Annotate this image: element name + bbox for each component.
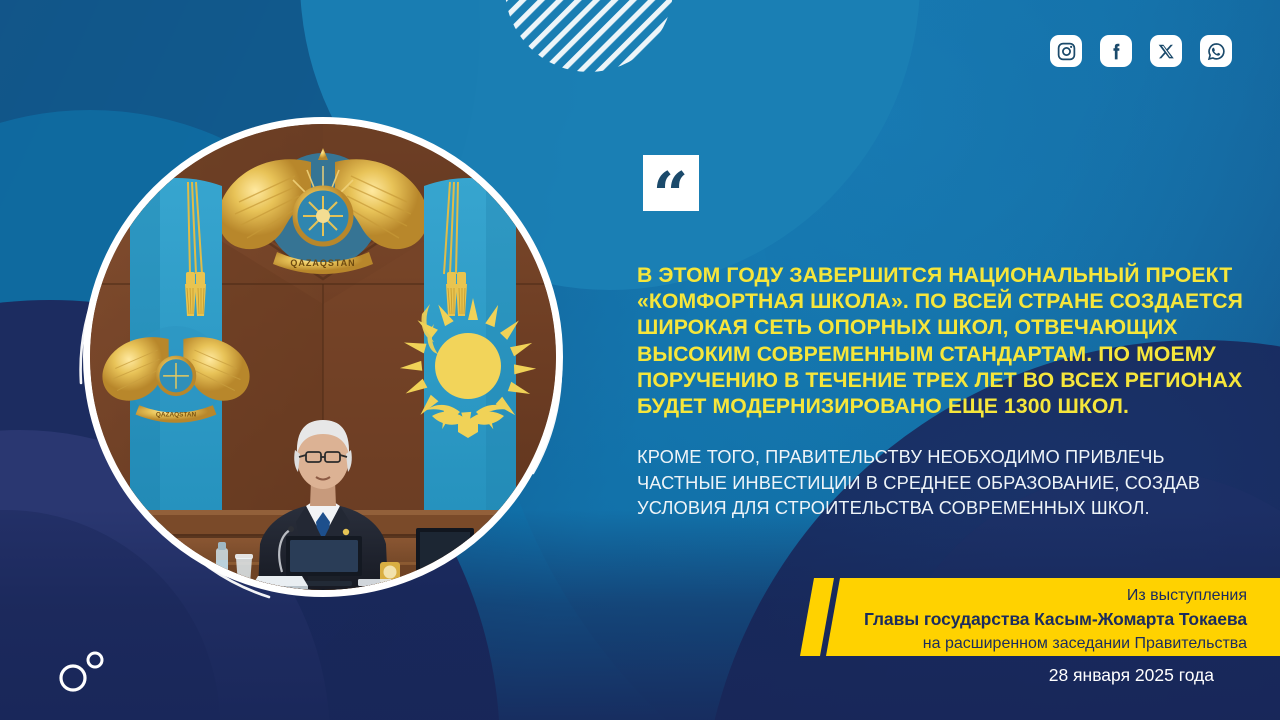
attribution-date: 28 января 2025 года [1049,665,1214,686]
quote-primary-text: В ЭТОМ ГОДУ ЗАВЕРШИТСЯ НАЦИОНАЛЬНЫЙ ПРОЕ… [637,263,1247,420]
social-links [1050,35,1232,67]
svg-text:QAZAQSTAN: QAZAQSTAN [290,258,355,268]
photo-image: QAZAQSTAN [90,124,556,590]
quote-secondary-text: КРОМЕ ТОГО, ПРАВИТЕЛЬСТВУ НЕОБХОДИМО ПРИ… [637,444,1247,520]
poster-canvas: QAZAQSTAN [0,0,1280,720]
instagram-icon[interactable] [1050,35,1082,67]
ring-dots-icon [55,645,115,695]
attribution-line-1: Из выступления [864,585,1247,607]
attribution-text: Из выступления Главы государства Касым-Ж… [864,585,1247,656]
attribution-line-3: на расширенном заседании Правительства [864,632,1247,656]
whatsapp-icon[interactable] [1200,35,1232,67]
quote-block: В ЭТОМ ГОДУ ЗАВЕРШИТСЯ НАЦИОНАЛЬНЫЙ ПРОЕ… [637,263,1247,520]
x-twitter-icon[interactable] [1150,35,1182,67]
facebook-icon[interactable] [1100,35,1132,67]
attribution-line-2: Главы государства Касым-Жомарта Токаева [864,607,1247,632]
quote-glyph: “ [653,164,690,226]
striped-circle-icon [505,0,673,72]
quote-mark-icon: “ [643,155,699,211]
attribution-banner: Из выступления Главы государства Касым-Ж… [800,578,1280,656]
photo-circle: QAZAQSTAN [63,97,583,617]
photo-ring-border: QAZAQSTAN [83,117,563,597]
svg-text:QAZAQSTAN: QAZAQSTAN [156,411,197,418]
